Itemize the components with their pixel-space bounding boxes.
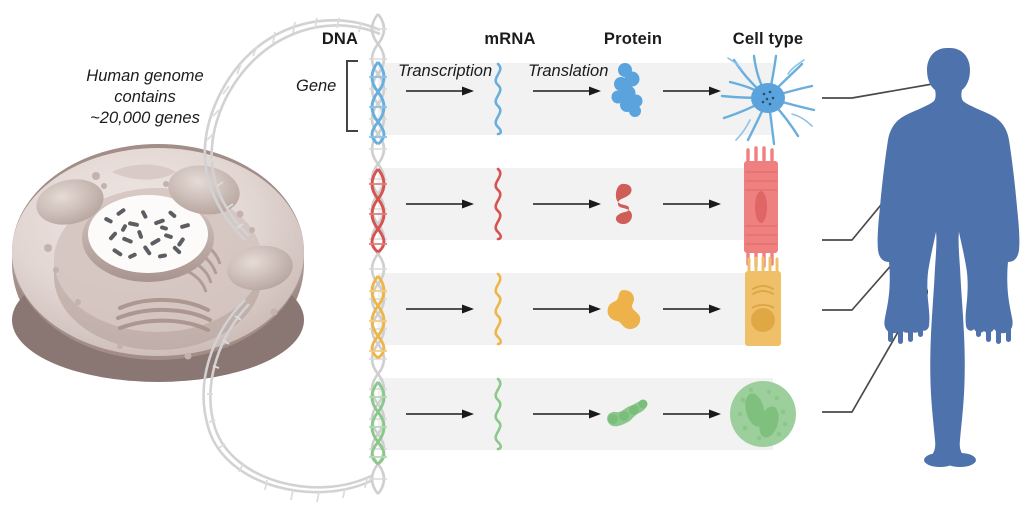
mrna-strand-3 — [487, 272, 509, 346]
cell-type-neuron — [716, 52, 820, 146]
arrow-transcription-4 — [406, 407, 476, 421]
gene-bracket — [345, 60, 361, 132]
mrna-strand-1 — [487, 62, 509, 136]
arrow-celltype-4 — [663, 407, 723, 421]
arrow-transcription-2 — [406, 197, 476, 211]
cell-type-epithelial — [740, 258, 786, 348]
epithelial-nucleus — [751, 308, 775, 332]
protein-chain — [616, 184, 632, 224]
soma — [751, 83, 785, 113]
protein-4 — [602, 392, 650, 434]
arrow-celltype-1 — [663, 84, 723, 98]
protein-2 — [608, 182, 644, 228]
gene-label: Gene — [296, 77, 336, 96]
dna-vertical-helix — [360, 14, 396, 494]
arrow-translation-3 — [533, 302, 603, 316]
protein-3 — [604, 288, 646, 332]
figure-canvas: DNA mRNA Protein Cell type Human genome … — [0, 0, 1024, 517]
transcription-label: Transcription — [398, 62, 492, 81]
column-header-protein: Protein — [578, 30, 688, 49]
arrow-transcription-3 — [406, 302, 476, 316]
protein-1 — [605, 62, 649, 124]
arrow-celltype-3 — [663, 302, 723, 316]
cell-type-white-blood-cell — [725, 376, 801, 452]
translation-label: Translation — [528, 62, 608, 81]
mrna-strand-2 — [487, 167, 509, 241]
arrow-translation-2 — [533, 197, 603, 211]
myofibril-ends-top — [748, 148, 772, 162]
mrna-strand-4 — [487, 377, 509, 451]
arrow-translation-1 — [533, 84, 603, 98]
dna-gene-segment-4 — [369, 382, 387, 464]
muscle-nucleus — [755, 191, 767, 223]
feet — [924, 453, 976, 467]
column-header-mrna: mRNA — [455, 30, 565, 49]
protein-chain — [608, 290, 641, 329]
arrow-celltype-2 — [663, 197, 723, 211]
human-body-silhouette — [872, 44, 1022, 464]
microvilli — [749, 258, 777, 272]
cell-type-muscle — [738, 148, 786, 266]
protein-subunits — [612, 63, 643, 117]
arrow-transcription-1 — [406, 84, 476, 98]
arrow-translation-4 — [533, 407, 603, 421]
